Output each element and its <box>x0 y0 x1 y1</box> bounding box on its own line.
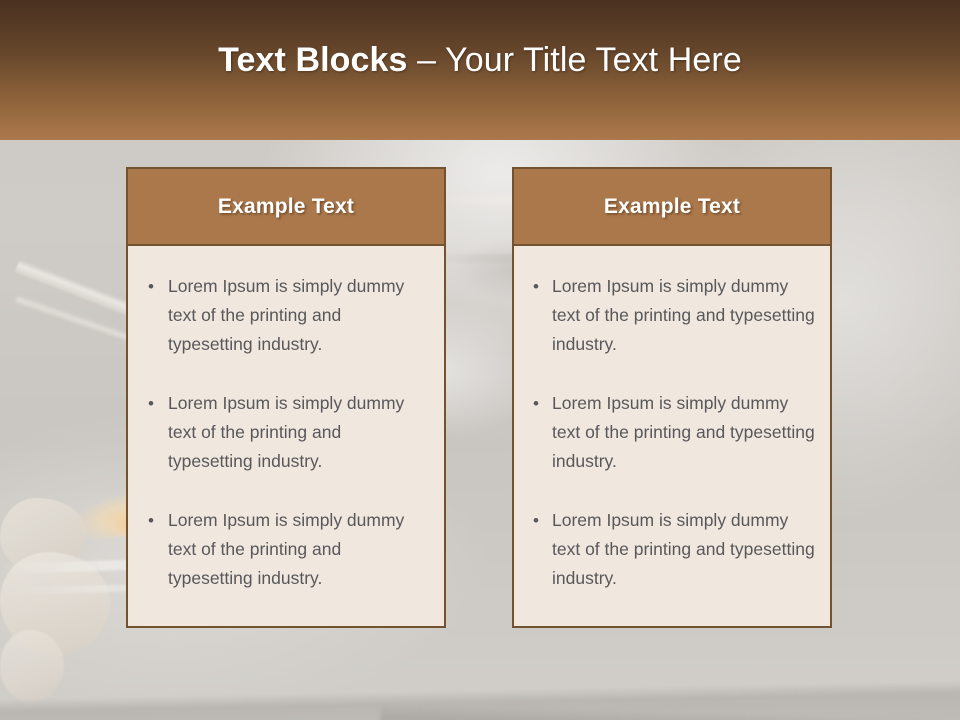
bullet-text: Lorem Ipsum is simply dummy text of the … <box>552 389 816 476</box>
text-block-right[interactable]: Example Text • Lorem Ipsum is simply dum… <box>512 167 832 628</box>
text-block-left-header-label: Example Text <box>218 195 354 219</box>
text-block-right-body: • Lorem Ipsum is simply dummy text of th… <box>512 246 832 628</box>
bullet-icon: • <box>520 272 552 301</box>
bullet-icon: • <box>134 389 168 418</box>
bullet-list-right: • Lorem Ipsum is simply dummy text of th… <box>520 272 816 593</box>
bullet-icon: • <box>520 506 552 535</box>
list-item: • Lorem Ipsum is simply dummy text of th… <box>520 389 816 476</box>
bullet-text: Lorem Ipsum is simply dummy text of the … <box>552 272 816 359</box>
bullet-list-left: • Lorem Ipsum is simply dummy text of th… <box>134 272 430 593</box>
bullet-text: Lorem Ipsum is simply dummy text of the … <box>168 389 430 476</box>
title-bar: Text Blocks – Your Title Text Here <box>0 0 960 140</box>
text-block-right-header-label: Example Text <box>604 195 740 219</box>
page-title-strong: Text Blocks <box>218 41 407 79</box>
slide-canvas: Text Blocks – Your Title Text Here Examp… <box>0 0 960 720</box>
text-block-right-header[interactable]: Example Text <box>512 167 832 246</box>
page-title: Text Blocks – Your Title Text Here <box>218 42 742 79</box>
list-item: • Lorem Ipsum is simply dummy text of th… <box>134 272 430 359</box>
bullet-text: Lorem Ipsum is simply dummy text of the … <box>552 506 816 593</box>
text-block-left-header[interactable]: Example Text <box>126 167 446 246</box>
text-block-left[interactable]: Example Text • Lorem Ipsum is simply dum… <box>126 167 446 628</box>
list-item: • Lorem Ipsum is simply dummy text of th… <box>134 389 430 476</box>
bullet-icon: • <box>520 389 552 418</box>
list-item: • Lorem Ipsum is simply dummy text of th… <box>520 506 816 593</box>
bullet-text: Lorem Ipsum is simply dummy text of the … <box>168 272 430 359</box>
bullet-icon: • <box>134 506 168 535</box>
list-item: • Lorem Ipsum is simply dummy text of th… <box>520 272 816 359</box>
list-item: • Lorem Ipsum is simply dummy text of th… <box>134 506 430 593</box>
bullet-text: Lorem Ipsum is simply dummy text of the … <box>168 506 430 593</box>
page-title-rest: – Your Title Text Here <box>408 41 742 79</box>
text-block-left-body: • Lorem Ipsum is simply dummy text of th… <box>126 246 446 628</box>
bullet-icon: • <box>134 272 168 301</box>
